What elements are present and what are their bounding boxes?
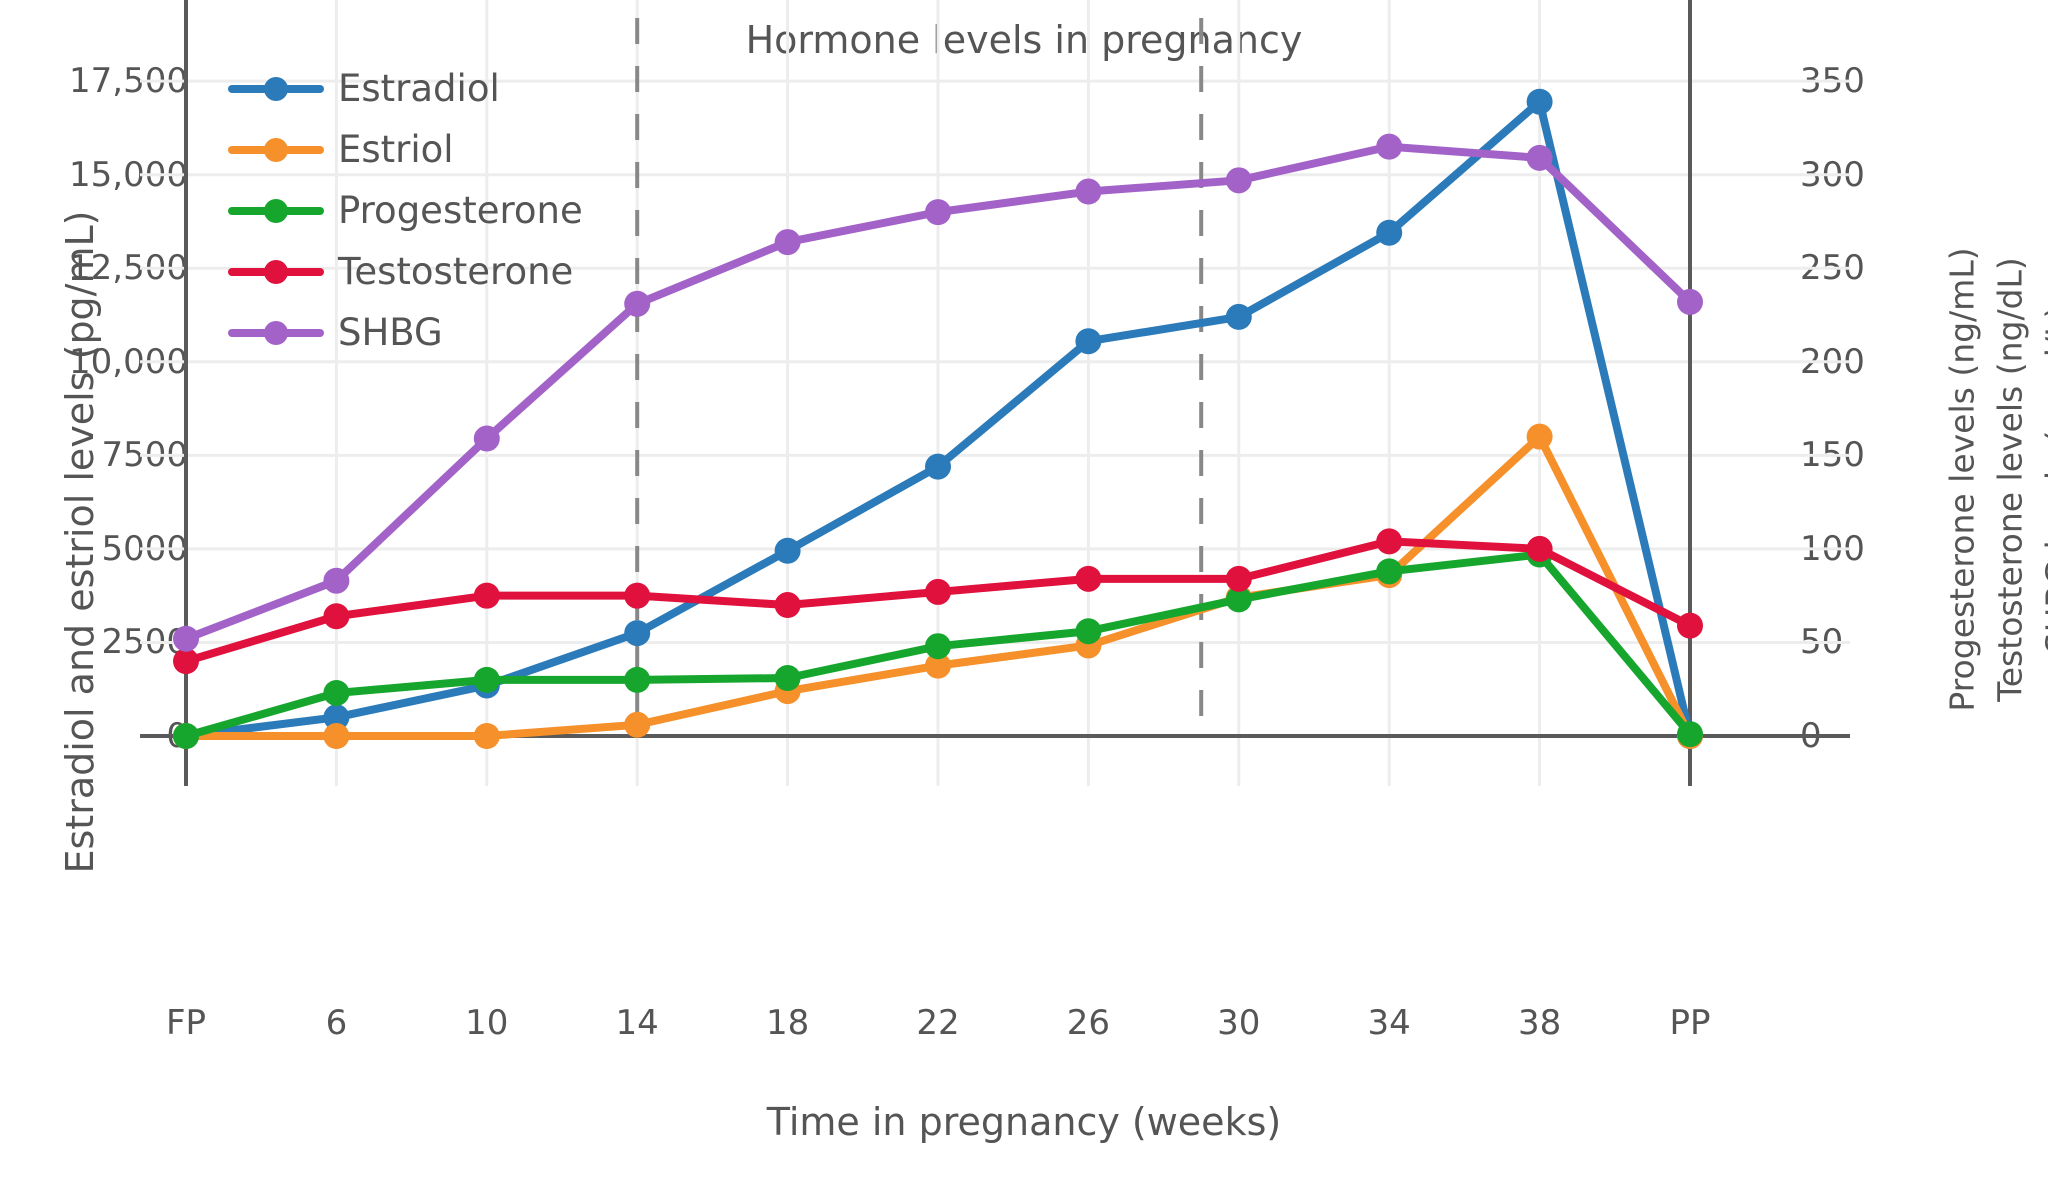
data-point-testosterone [624,583,650,609]
data-point-shbg [474,426,500,452]
data-point-shbg [624,291,650,317]
legend-label: Progesterone [338,189,583,232]
data-point-testosterone [474,583,500,609]
x-axis-tick-label: FP [166,1003,206,1043]
legend-label: Testosterone [338,250,573,293]
data-point-progesterone [1677,721,1703,747]
data-point-progesterone [1376,558,1402,584]
x-axis-tick-label: 34 [1368,1003,1411,1043]
data-point-estradiol [1075,328,1101,354]
data-point-estriol [1527,424,1553,450]
data-point-shbg [173,626,199,652]
data-point-estriol [474,723,500,749]
legend-swatch-icon [228,72,324,106]
legend-item-shbg[interactable]: SHBG [228,302,583,363]
data-point-shbg [1226,167,1252,193]
legend-swatch-icon [228,255,324,289]
data-point-shbg [1527,145,1553,171]
chart-figure: Hormone levels in pregnancy Estradiol an… [0,0,2048,1196]
legend-item-estradiol[interactable]: Estradiol [228,58,583,119]
data-point-testosterone [1226,566,1252,592]
x-axis-tick-label: PP [1669,1003,1710,1043]
data-point-estradiol [624,620,650,646]
legend-swatch-icon [228,133,324,167]
data-point-shbg [1075,179,1101,205]
data-point-testosterone [173,648,199,674]
data-point-testosterone [1376,528,1402,554]
x-axis-title: Time in pregnancy (weeks) [0,1100,2048,1144]
data-point-progesterone [775,665,801,691]
x-axis-tick-label: 30 [1217,1003,1260,1043]
data-point-shbg [323,568,349,594]
data-point-testosterone [1075,566,1101,592]
x-axis-tick-label: 6 [326,1003,348,1043]
y-axis-right-title-progesterone: Progesterone levels (ng/mL) [1943,100,1982,860]
data-point-progesterone [925,633,951,659]
x-axis-tick-label: 18 [766,1003,809,1043]
x-axis-tick-label: 38 [1518,1003,1561,1043]
legend-label: Estriol [338,128,454,171]
legend-swatch-icon [228,316,324,350]
data-point-progesterone [323,680,349,706]
data-point-estriol [624,712,650,738]
data-point-testosterone [1527,536,1553,562]
legend-item-estriol[interactable]: Estriol [228,119,583,180]
data-point-progesterone [474,667,500,693]
data-point-testosterone [1677,613,1703,639]
legend-item-progesterone[interactable]: Progesterone [228,180,583,241]
data-point-progesterone [1075,618,1101,644]
data-point-estradiol [1527,89,1553,115]
data-point-estradiol [775,538,801,564]
data-point-progesterone [624,667,650,693]
legend-label: SHBG [338,311,443,354]
data-point-progesterone [173,723,199,749]
data-point-testosterone [323,603,349,629]
data-point-estradiol [1376,220,1402,246]
x-axis-tick-label: 10 [465,1003,508,1043]
data-point-estriol [323,723,349,749]
y-axis-right-title-shbg: SHBG levels (nmol/L) [2039,100,2048,860]
legend-swatch-icon [228,194,324,228]
x-axis-tick-label: 14 [616,1003,659,1043]
data-point-testosterone [925,579,951,605]
x-axis-tick-label: 22 [916,1003,959,1043]
chart-legend: EstradiolEstriolProgesteroneTestosterone… [228,58,583,363]
y-axis-right-title-testosterone: Testosterone levels (ng/dL) [1991,100,2030,860]
data-point-estradiol [925,454,951,480]
data-point-shbg [1376,134,1402,160]
data-point-estradiol [1226,304,1252,330]
data-point-shbg [1677,289,1703,315]
legend-label: Estradiol [338,67,500,110]
legend-item-testosterone[interactable]: Testosterone [228,241,583,302]
x-axis-tick-label: 26 [1067,1003,1110,1043]
data-point-testosterone [775,592,801,618]
data-point-shbg [775,229,801,255]
data-point-shbg [925,199,951,225]
